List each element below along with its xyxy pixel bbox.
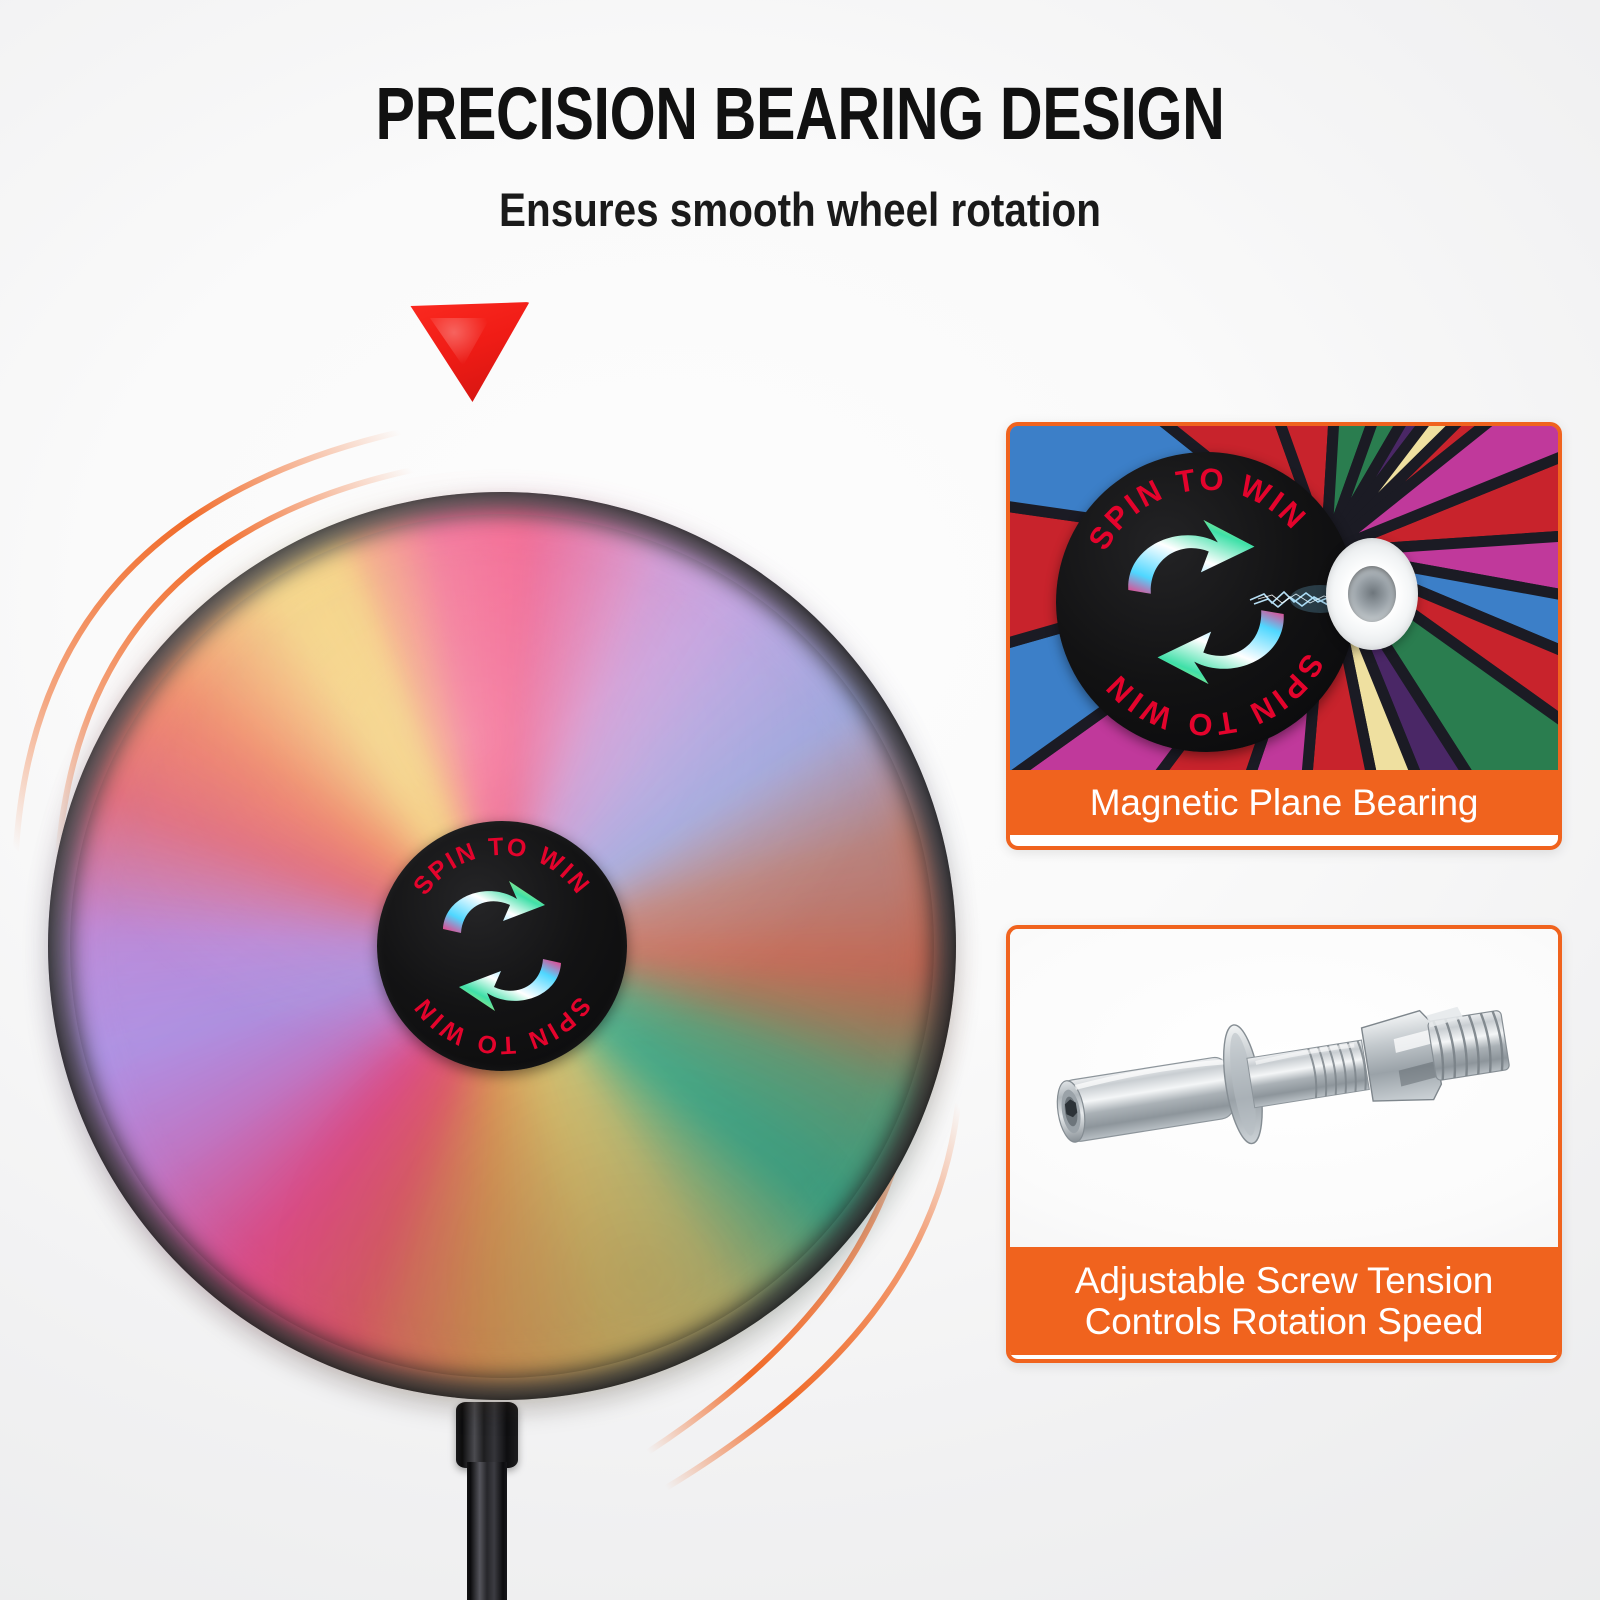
page-title: PRECISION BEARING DESIGN (160, 76, 1440, 151)
spinning-wheel-assembly: SPIN TO WIN SPIN TO WIN (0, 280, 1000, 1600)
white-magnetic-bearing-cap (1326, 538, 1418, 650)
inset-rainbow-cycle-arrows-icon (1122, 513, 1290, 692)
panel-caption-magnetic-bearing: Magnetic Plane Bearing (1010, 770, 1558, 835)
wheel-hub-label[interactable]: SPIN TO WIN SPIN TO WIN (377, 821, 627, 1071)
hub-text-bottom: SPIN TO WIN (408, 992, 596, 1060)
hub-text-top: SPIN TO WIN (408, 833, 596, 901)
caption-line-2: Controls Rotation Speed (1016, 1301, 1552, 1342)
feature-panel-magnetic-bearing[interactable]: SPIN TO WIN SPIN TO WIN (1006, 422, 1562, 850)
adjustable-tension-screw-photo (1010, 929, 1558, 1247)
feature-panel-adjustable-screw[interactable]: Adjustable Screw Tension Controls Rotati… (1006, 925, 1562, 1363)
panel-caption-adjustable-screw: Adjustable Screw Tension Controls Rotati… (1010, 1247, 1558, 1355)
page-subtitle: Ensures smooth wheel rotation (112, 182, 1488, 237)
screw-hardware-illustration (1048, 983, 1518, 1193)
hub-graphic: SPIN TO WIN SPIN TO WIN (377, 821, 627, 1071)
floor-stand-pole (467, 1462, 507, 1600)
bearing-cap-center (1348, 566, 1396, 622)
wheel-hub-magnetic-bearing-photo: SPIN TO WIN SPIN TO WIN (1010, 426, 1558, 770)
wheel-rim[interactable]: SPIN TO WIN SPIN TO WIN (48, 492, 956, 1400)
rainbow-cycle-arrows-icon (443, 881, 561, 1011)
product-feature-image: PRECISION BEARING DESIGN Ensures smooth … (0, 0, 1600, 1600)
pole-collar (456, 1402, 518, 1468)
caption-line-1: Adjustable Screw Tension (1016, 1260, 1552, 1301)
